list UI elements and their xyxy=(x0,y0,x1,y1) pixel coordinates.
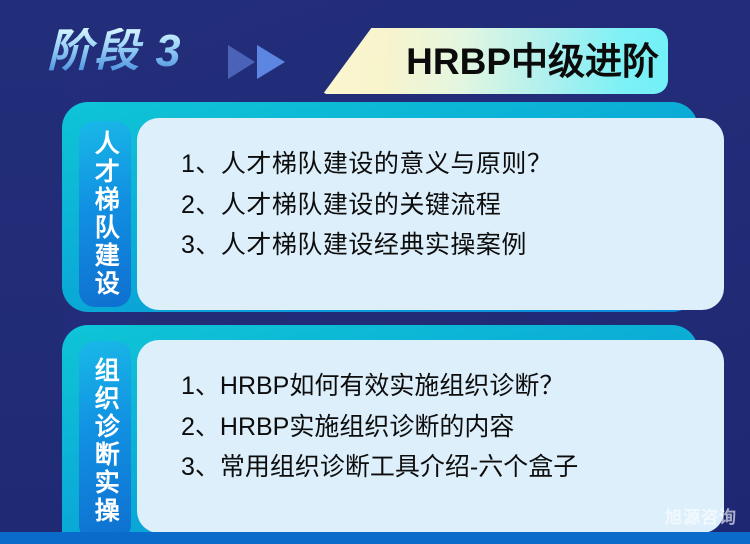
section-category-label: 组织诊断实操 xyxy=(92,357,119,525)
list-item: 1、HRBP如何有效实施组织诊断？ xyxy=(181,366,704,407)
slide-canvas: 阶段 3 HRBP中级进阶 1、人才梯队建设的意义与原则？ 2、人才梯队建设的关… xyxy=(0,0,750,544)
section-category-tab-1: 人才梯队建设 xyxy=(79,121,131,307)
list-item: 2、HRBP实施组织诊断的内容 xyxy=(181,407,704,448)
left-rail-decoration xyxy=(0,0,62,544)
section-category-label: 人才梯队建设 xyxy=(92,130,119,298)
stage-label: 阶段 3 xyxy=(47,28,183,73)
watermark: 旭源咨询 xyxy=(665,503,737,528)
title-banner: HRBP中级进阶 xyxy=(323,28,668,94)
section-content-card-1: 1、人才梯队建设的意义与原则？ 2、人才梯队建设的关键流程 3、人才梯队建设经典… xyxy=(137,118,724,310)
bottom-accent-strip xyxy=(0,532,750,544)
section-category-tab-2: 组织诊断实操 xyxy=(79,341,131,541)
list-item: 3、人才梯队建设经典实操案例 xyxy=(181,225,704,266)
section-content-card-2: 1、HRBP如何有效实施组织诊断？ 2、HRBP实施组织诊断的内容 3、常用组织… xyxy=(137,340,724,533)
list-item: 2、人才梯队建设的关键流程 xyxy=(181,185,704,226)
list-item: 1、人才梯队建设的意义与原则？ xyxy=(181,144,704,185)
double-chevron-right-icon xyxy=(228,42,294,82)
banner-title-text: HRBP中级进阶 xyxy=(406,43,659,80)
list-item: 3、常用组织诊断工具介绍-六个盒子 xyxy=(181,447,704,488)
